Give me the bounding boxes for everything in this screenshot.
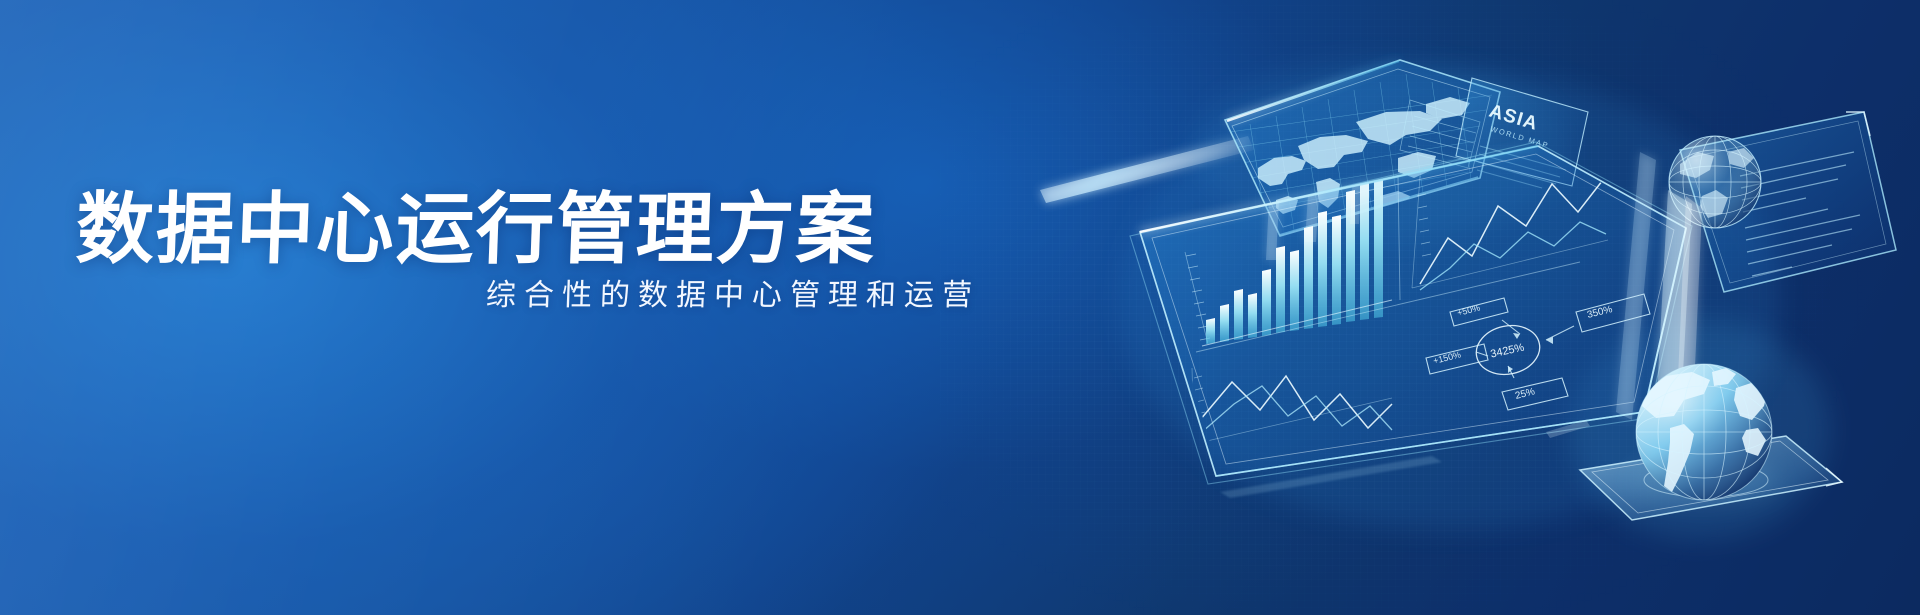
page-title: 数据中心运行管理方案 — [75, 188, 878, 271]
globe-3d — [1636, 364, 1772, 500]
hero-banner: 数据中心运行管理方案 综合性的数据中心管理和运营 — [0, 0, 1920, 615]
hero-artwork: ASIA WORLD MAP — [980, 0, 1920, 615]
page-subtitle: 综合性的数据中心管理和运营 — [485, 278, 980, 314]
banner-copy: 数据中心运行管理方案 综合性的数据中心管理和运营 — [0, 0, 1060, 615]
